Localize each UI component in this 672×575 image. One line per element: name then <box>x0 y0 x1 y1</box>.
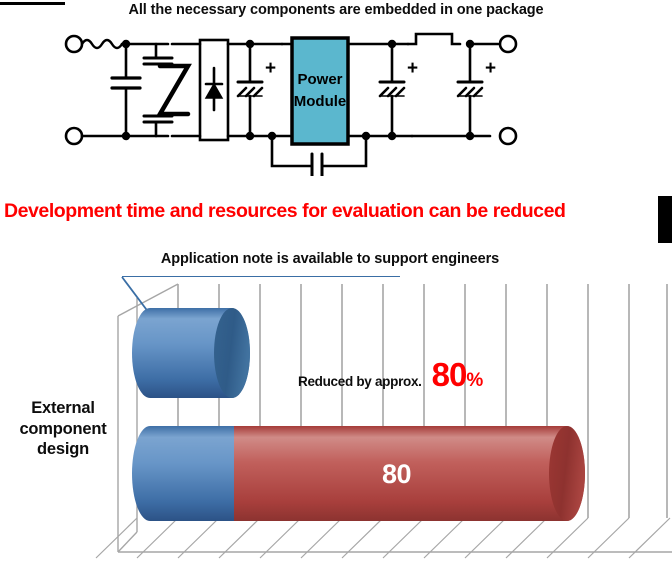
fuse-icon <box>408 34 460 44</box>
black-block-decoration <box>658 196 672 243</box>
transformer-icon <box>144 44 188 136</box>
heading-application-note: Application note is available to support… <box>0 251 660 267</box>
annotation-percent-sign: % <box>466 370 482 392</box>
electrolytic-capacitor-3-icon <box>458 44 482 136</box>
electrolytic-capacitor-1-icon <box>238 44 262 136</box>
svg-text:+: + <box>407 58 418 79</box>
svg-text:+: + <box>485 58 496 79</box>
heading-embedded-components: All the necessary components are embedde… <box>0 2 672 18</box>
category-label-line-3: design <box>4 439 122 460</box>
power-module-label-line2: Module <box>294 93 347 110</box>
power-module-label-line1: Power <box>297 71 342 88</box>
input-terminal-bottom-icon <box>66 128 82 144</box>
output-terminal-bottom-icon <box>500 128 516 144</box>
annotation-value-80: 80 <box>432 362 467 388</box>
circuit-diagram: + + <box>60 26 560 176</box>
power-module-block <box>292 38 348 144</box>
input-terminal-top-icon <box>66 36 82 52</box>
category-label-line-1: External <box>4 398 122 419</box>
annotation-prefix-text: Reduced by approx. <box>298 374 422 389</box>
output-terminal-top-icon <box>500 36 516 52</box>
bar-segment-red-cap <box>549 426 585 521</box>
headline-red-banner: Development time and resources for evalu… <box>4 200 664 223</box>
electrolytic-capacitor-2-icon <box>380 44 404 136</box>
bar-segment-blue <box>132 426 234 521</box>
category-axis-label: External component design <box>4 398 122 460</box>
bar-data-label-80: 80 <box>382 459 411 490</box>
svg-text:+: + <box>265 58 276 79</box>
bar-blue-reference <box>132 308 250 398</box>
category-label-line-2: component <box>4 419 122 440</box>
bar-stacked-main <box>132 426 585 521</box>
annotation-reduced-by: Reduced by approx. 80 % <box>298 362 483 392</box>
